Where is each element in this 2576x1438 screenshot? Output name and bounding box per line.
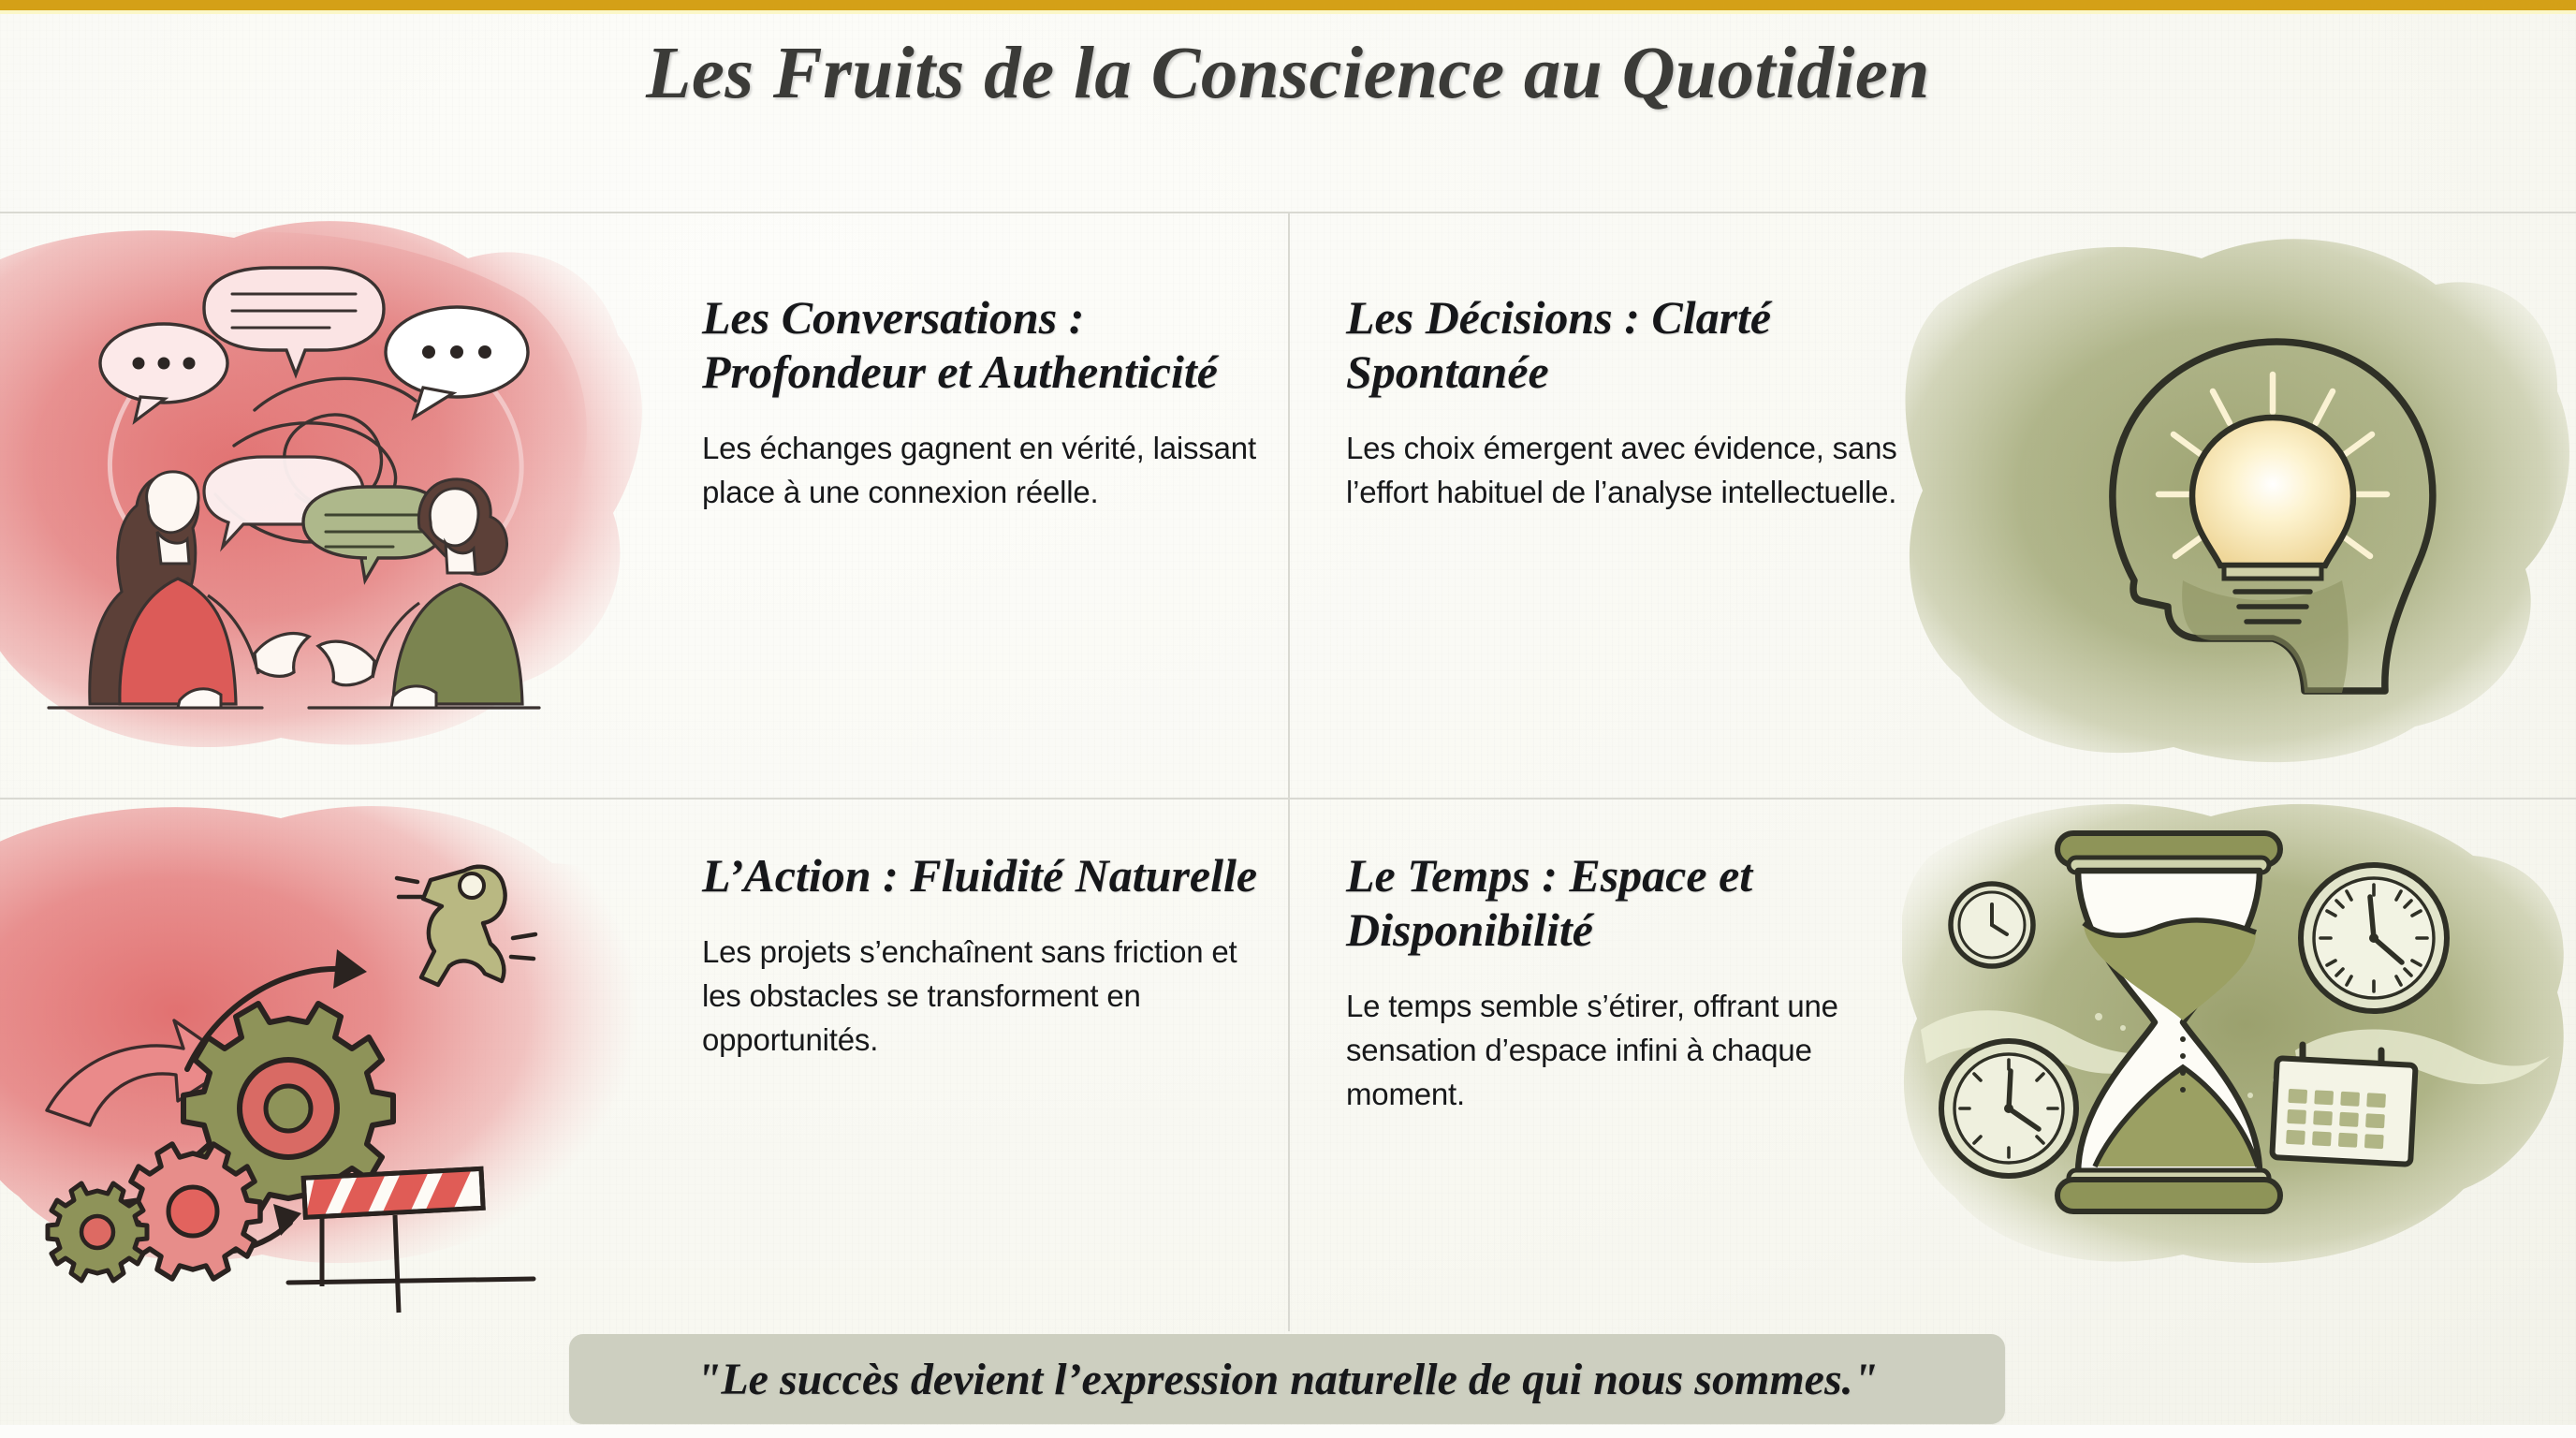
card-decisions-heading: Les Décisions : Clarté Spontanée <box>1346 290 1908 399</box>
two-people-conversation-illustration <box>0 213 674 798</box>
top-accent-highlight <box>0 10 2576 14</box>
card-conversations-copy: Les Conversations : Profondeur et Authen… <box>702 213 1264 874</box>
card-action: L’Action : Fluidité Naturelle Les projet… <box>0 800 1288 1331</box>
top-accent-bar <box>0 0 2576 10</box>
head-lightbulb-illustration <box>1902 213 2576 798</box>
page-title: Les Fruits de la Conscience au Quotidien <box>0 32 2576 116</box>
card-temps: Le Temps : Espace et Disponibilité Le te… <box>1290 800 2576 1331</box>
hourglass-clocks-calendar-illustration <box>1902 800 2576 1331</box>
card-decisions-body: Les choix émergent avec évidence, sans l… <box>1346 427 1908 515</box>
footer-quote-banner: "Le succès devient l’expression naturell… <box>569 1334 2005 1424</box>
divider-vertical <box>1288 212 1290 1331</box>
card-action-copy: L’Action : Fluidité Naturelle Les projet… <box>702 800 1264 1380</box>
card-temps-copy: Le Temps : Espace et Disponibilité Le te… <box>1346 800 1908 1380</box>
card-decisions: Les Décisions : Clarté Spontanée Les cho… <box>1290 213 2576 798</box>
card-action-heading: L’Action : Fluidité Naturelle <box>702 848 1264 902</box>
card-conversations: Les Conversations : Profondeur et Authen… <box>0 213 1288 798</box>
card-conversations-heading: Les Conversations : Profondeur et Authen… <box>702 290 1264 399</box>
gears-arrows-barrier-illustration <box>0 800 674 1331</box>
card-action-body: Les projets s’enchaînent sans friction e… <box>702 931 1264 1063</box>
bottom-margin <box>0 1425 2576 1438</box>
card-temps-body: Le temps semble s’étirer, offrant une se… <box>1346 985 1908 1117</box>
footer-quote-text: "Le succès devient l’expression naturell… <box>696 1354 1879 1405</box>
card-conversations-body: Les échanges gagnent en vérité, laissant… <box>702 427 1264 515</box>
card-decisions-copy: Les Décisions : Clarté Spontanée Les cho… <box>1346 213 1908 874</box>
card-temps-heading: Le Temps : Espace et Disponibilité <box>1346 848 1908 957</box>
